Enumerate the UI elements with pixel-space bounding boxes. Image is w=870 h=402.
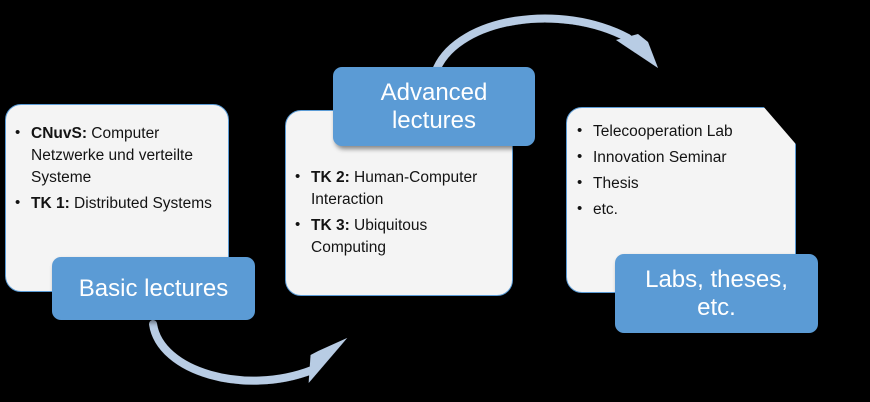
list-item: TK 3: Ubiquitous Computing	[294, 215, 500, 259]
list-item: Innovation Seminar	[576, 147, 784, 169]
list-item: etc.	[576, 199, 784, 221]
list-item-text: Thesis	[593, 175, 639, 192]
list-item: Telecooperation Lab	[576, 121, 784, 143]
card-basic-lectures-list: CNuvS: Computer Netzwerke und verteilte …	[6, 105, 228, 215]
diagram-canvas: CNuvS: Computer Netzwerke und verteilte …	[0, 0, 870, 402]
list-item-lead: TK 1:	[31, 195, 70, 212]
list-item-lead: TK 2:	[311, 169, 350, 186]
card-labs-theses-list: Telecooperation Lab Innovation Seminar T…	[566, 107, 796, 221]
chip-advanced-lectures-label: Advanced lectures	[341, 79, 527, 134]
list-item-lead: TK 3:	[311, 217, 350, 234]
list-item-text: Distributed Systems	[70, 195, 212, 212]
list-item-text: etc.	[593, 201, 618, 218]
chip-advanced-lectures[interactable]: Advanced lectures	[333, 67, 535, 146]
list-item-text: Innovation Seminar	[593, 149, 727, 166]
list-item-text: Telecooperation Lab	[593, 123, 733, 140]
curved-arrow-bottom	[153, 324, 347, 387]
chip-basic-lectures[interactable]: Basic lectures	[52, 257, 255, 320]
list-item: CNuvS: Computer Netzwerke und verteilte …	[14, 123, 216, 189]
chip-basic-lectures-label: Basic lectures	[79, 275, 228, 303]
list-item-lead: CNuvS:	[31, 125, 87, 142]
curved-arrow-top	[437, 18, 658, 68]
chip-labs-theses[interactable]: Labs, theses, etc.	[615, 254, 818, 333]
list-item: TK 2: Human-Computer Interaction	[294, 167, 500, 211]
list-item: Thesis	[576, 173, 784, 195]
chip-labs-theses-label: Labs, theses, etc.	[623, 266, 810, 321]
list-item: TK 1: Distributed Systems	[14, 193, 216, 215]
